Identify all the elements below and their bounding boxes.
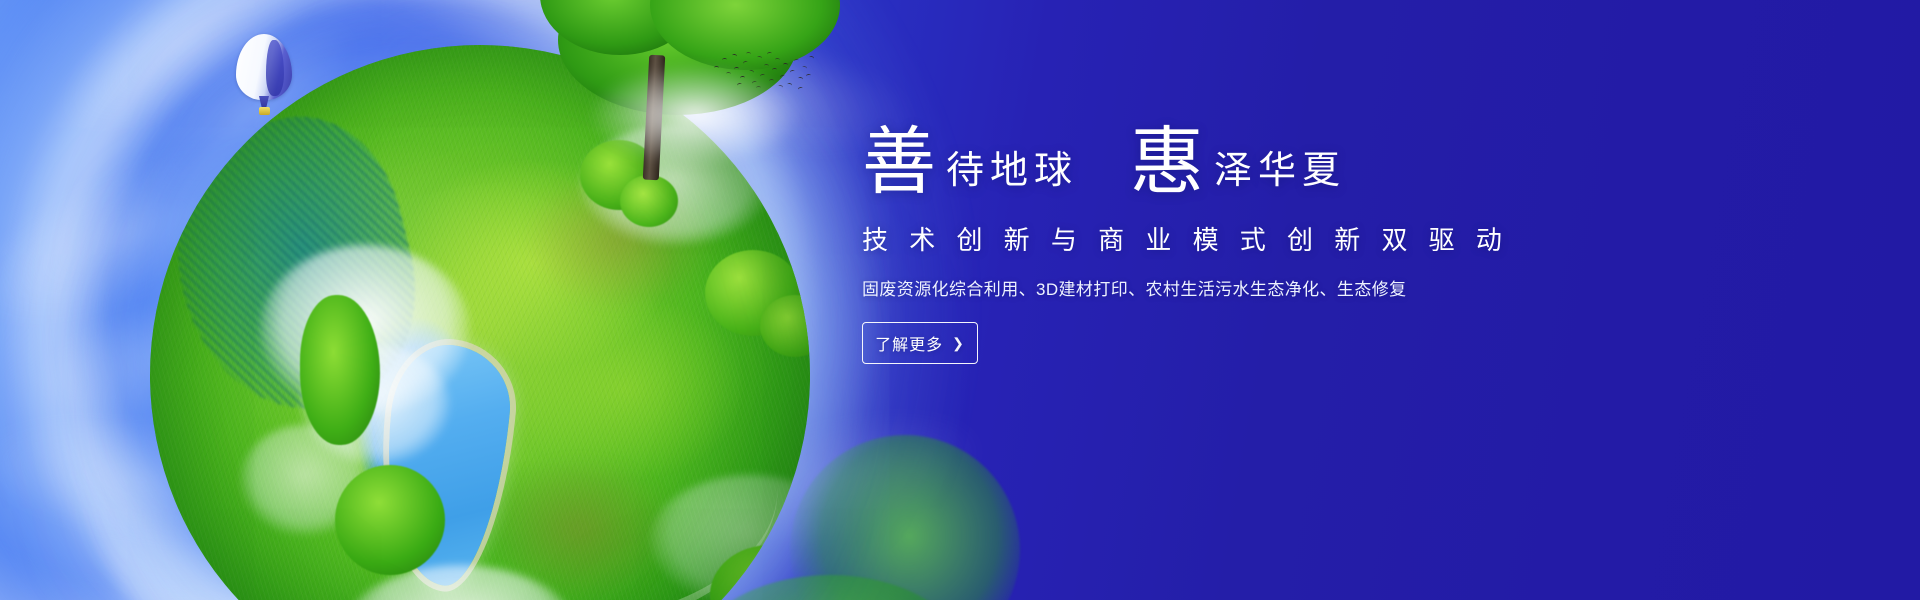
- bird-icon: [767, 52, 773, 57]
- bird-icon: [737, 82, 743, 87]
- page-subtitle: 技 术 创 新 与 商 业 模 式 创 新 双 驱 动: [862, 220, 1622, 257]
- tiny-planet-artwork: [150, 45, 830, 600]
- bird-icon: [760, 74, 766, 79]
- bird-flock-icon: [712, 50, 812, 94]
- bird-icon: [756, 86, 761, 90]
- bird-icon: [722, 58, 727, 63]
- bird-icon: [783, 63, 788, 68]
- bird-icon: [794, 59, 800, 64]
- bird-icon: [775, 58, 780, 62]
- balloon-basket: [259, 107, 270, 115]
- bird-icon: [798, 76, 804, 81]
- hero-banner: 善 待地球 惠 泽华夏 技 术 创 新 与 商 业 模 式 创 新 双 驱 动 …: [0, 0, 1920, 600]
- large-tree: [540, 0, 840, 225]
- bird-icon: [726, 72, 731, 76]
- bird-icon: [769, 79, 774, 83]
- bird-icon: [772, 68, 777, 73]
- learn-more-button[interactable]: 了解更多 ❯: [862, 322, 978, 364]
- bird-icon: [748, 69, 754, 74]
- learn-more-label: 了解更多: [875, 331, 943, 355]
- headline-char-2: 惠: [1130, 126, 1204, 200]
- bird-icon: [752, 80, 758, 85]
- headline-char-1: 善: [862, 126, 936, 200]
- bird-icon: [714, 66, 719, 70]
- bird-icon: [802, 65, 808, 70]
- hot-air-balloon-icon: [236, 34, 292, 120]
- headline-tail-2: 泽华夏: [1214, 152, 1346, 190]
- bird-icon: [734, 67, 739, 71]
- bird-icon: [746, 52, 751, 56]
- bird-icon: [742, 60, 748, 65]
- bird-icon: [806, 74, 812, 79]
- bird-icon: [790, 69, 796, 74]
- bird-icon: [732, 54, 738, 59]
- hero-copy: 善 待地球 惠 泽华夏 技 术 创 新 与 商 业 模 式 创 新 双 驱 动 …: [862, 126, 1622, 364]
- bird-icon: [787, 82, 793, 87]
- headline-tail-1: 待地球: [946, 152, 1078, 190]
- bird-icon: [778, 84, 784, 89]
- page-description: 固废资源化综合利用、3D建材打印、农村生活污水生态净化、生态修复: [862, 275, 1622, 300]
- bird-icon: [779, 74, 785, 79]
- bird-icon: [798, 86, 804, 91]
- page-title: 善 待地球 惠 泽华夏: [862, 126, 1622, 200]
- bird-icon: [764, 64, 769, 69]
- bird-icon: [740, 76, 745, 81]
- bird-icon: [757, 55, 763, 60]
- chevron-right-icon: ❯: [952, 336, 965, 350]
